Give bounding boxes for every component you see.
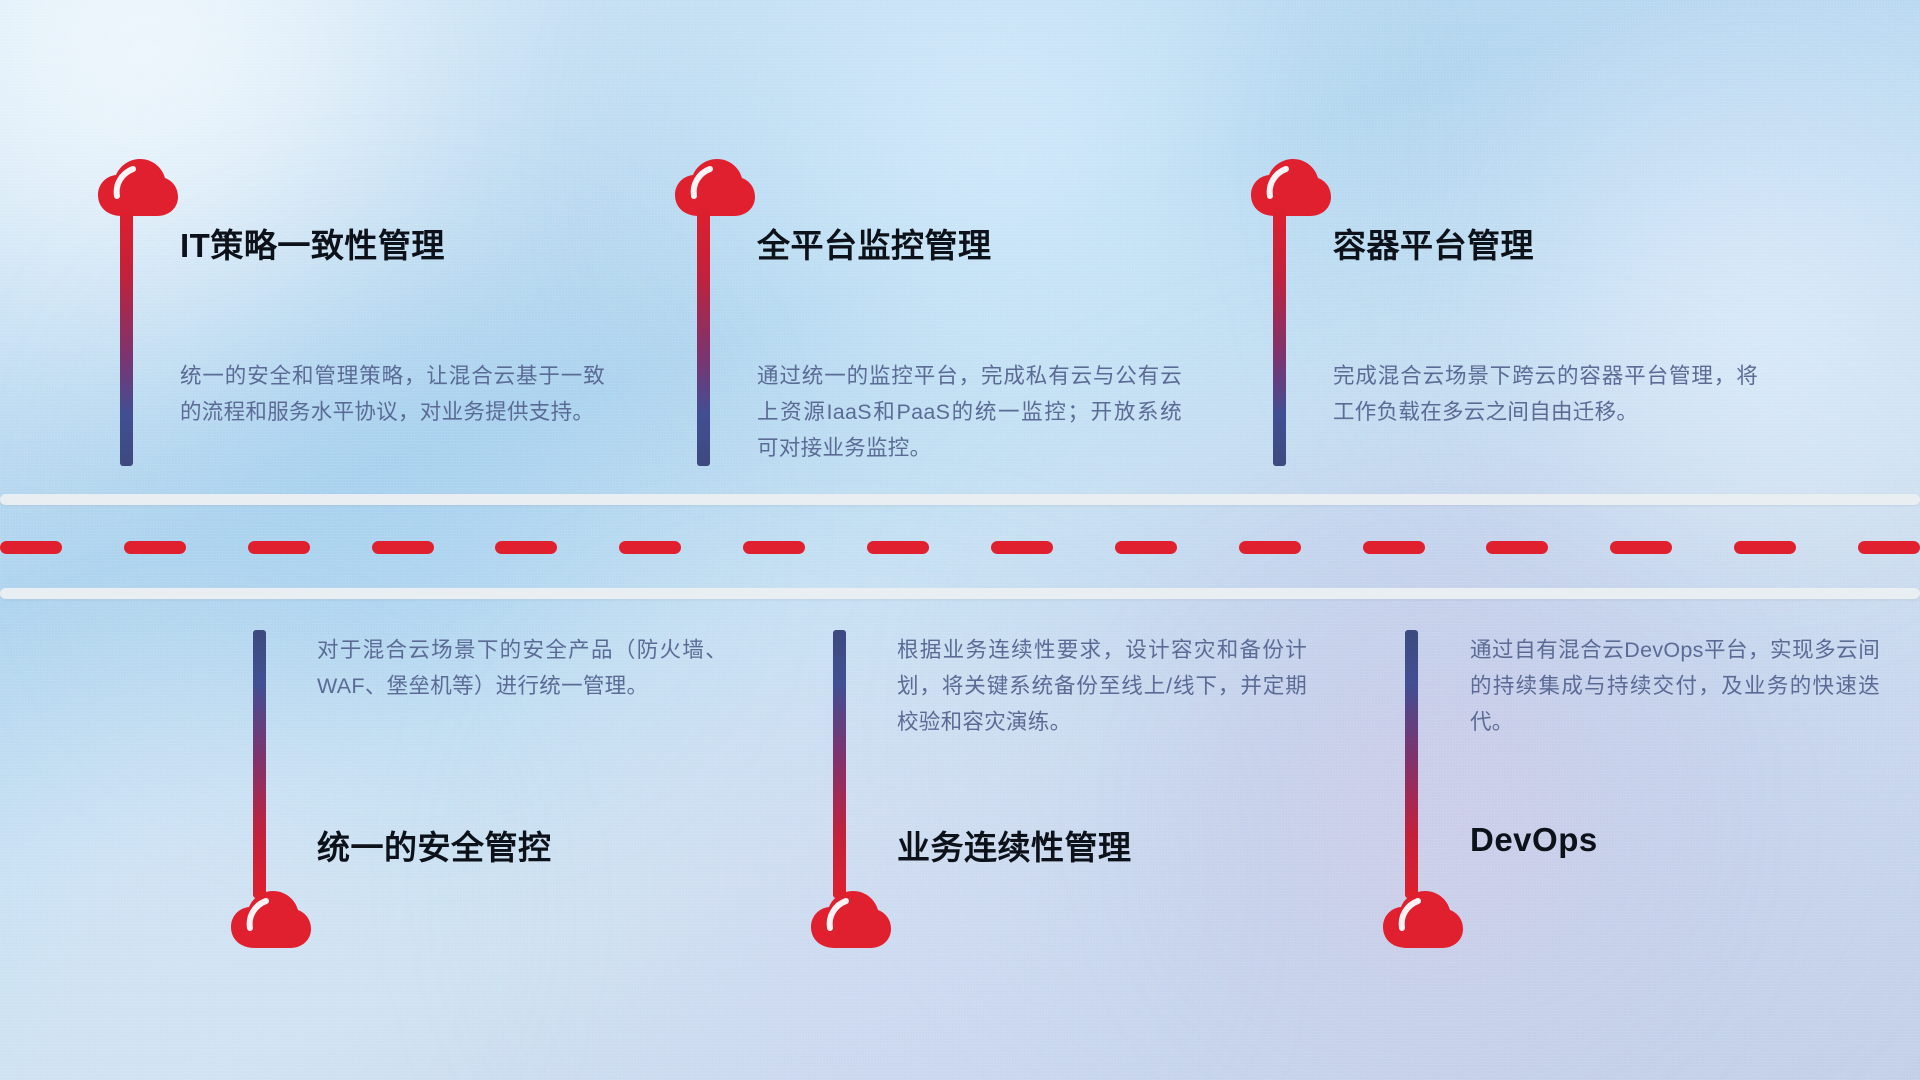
feature-title: IT策略一致性管理 xyxy=(180,219,445,267)
cloud-icon xyxy=(1380,890,1464,952)
feature-description: 通过自有混合云DevOps平台，实现多云间的持续集成与持续交付，及业务的快速迭代… xyxy=(1470,632,1880,740)
timeline-stem xyxy=(833,630,846,898)
road-dash-segment xyxy=(1734,541,1796,554)
feature-title: 全平台监控管理 xyxy=(757,219,992,267)
road-dash-segment xyxy=(124,541,186,554)
timeline-stem xyxy=(697,208,710,466)
cloud-pin-icon xyxy=(95,158,179,220)
road-dash-segment xyxy=(1486,541,1548,554)
timeline-stem xyxy=(1405,630,1418,898)
road-dash-segment xyxy=(495,541,557,554)
infographic-canvas: IT策略一致性管理 统一的安全和管理策略，让混合云基于一致的流程和服务水平协议，… xyxy=(0,0,1920,1080)
road-dash-segment xyxy=(1858,541,1920,554)
feature-description: 对于混合云场景下的安全产品（防火墙、WAF、堡垒机等）进行统一管理。 xyxy=(317,632,727,704)
feature-description: 统一的安全和管理策略，让混合云基于一致的流程和服务水平协议，对业务提供支持。 xyxy=(180,358,605,430)
cloud-icon xyxy=(808,890,892,952)
cloud-icon xyxy=(95,158,179,220)
feature-description: 完成混合云场景下跨云的容器平台管理，将工作负载在多云之间自由迁移。 xyxy=(1333,358,1758,430)
road-dash-segment xyxy=(248,541,310,554)
cloud-pin-icon xyxy=(1380,890,1464,952)
road-line-bottom xyxy=(0,588,1920,599)
cloud-pin-icon xyxy=(1248,158,1332,220)
road-dash-segment xyxy=(372,541,434,554)
feature-title: 容器平台管理 xyxy=(1333,219,1534,267)
road-dash-segment xyxy=(1115,541,1177,554)
road-dash-segment xyxy=(991,541,1053,554)
cloud-pin-icon xyxy=(808,890,892,952)
feature-title: DevOps xyxy=(1470,821,1598,859)
timeline-stem xyxy=(253,630,266,898)
feature-description: 通过统一的监控平台，完成私有云与公有云上资源IaaS和PaaS的统一监控；开放系… xyxy=(757,358,1182,466)
cloud-pin-icon xyxy=(228,890,312,952)
cloud-icon xyxy=(672,158,756,220)
cloud-icon xyxy=(228,890,312,952)
timeline-stem xyxy=(120,208,133,466)
road-line-top xyxy=(0,494,1920,505)
cloud-icon xyxy=(1248,158,1332,220)
cloud-pin-icon xyxy=(672,158,756,220)
road-dash-segment xyxy=(0,541,62,554)
road-dash-segment xyxy=(867,541,929,554)
road-dash-line xyxy=(0,541,1920,554)
road-dash-segment xyxy=(1363,541,1425,554)
timeline-stem xyxy=(1273,208,1286,466)
road-dash-segment xyxy=(1610,541,1672,554)
road-dash-segment xyxy=(743,541,805,554)
feature-description: 根据业务连续性要求，设计容灾和备份计划，将关键系统备份至线上/线下，并定期校验和… xyxy=(897,632,1307,740)
feature-title: 业务连续性管理 xyxy=(897,821,1132,869)
road-dash-segment xyxy=(1239,541,1301,554)
road-dash-segment xyxy=(619,541,681,554)
feature-title: 统一的安全管控 xyxy=(317,821,552,869)
